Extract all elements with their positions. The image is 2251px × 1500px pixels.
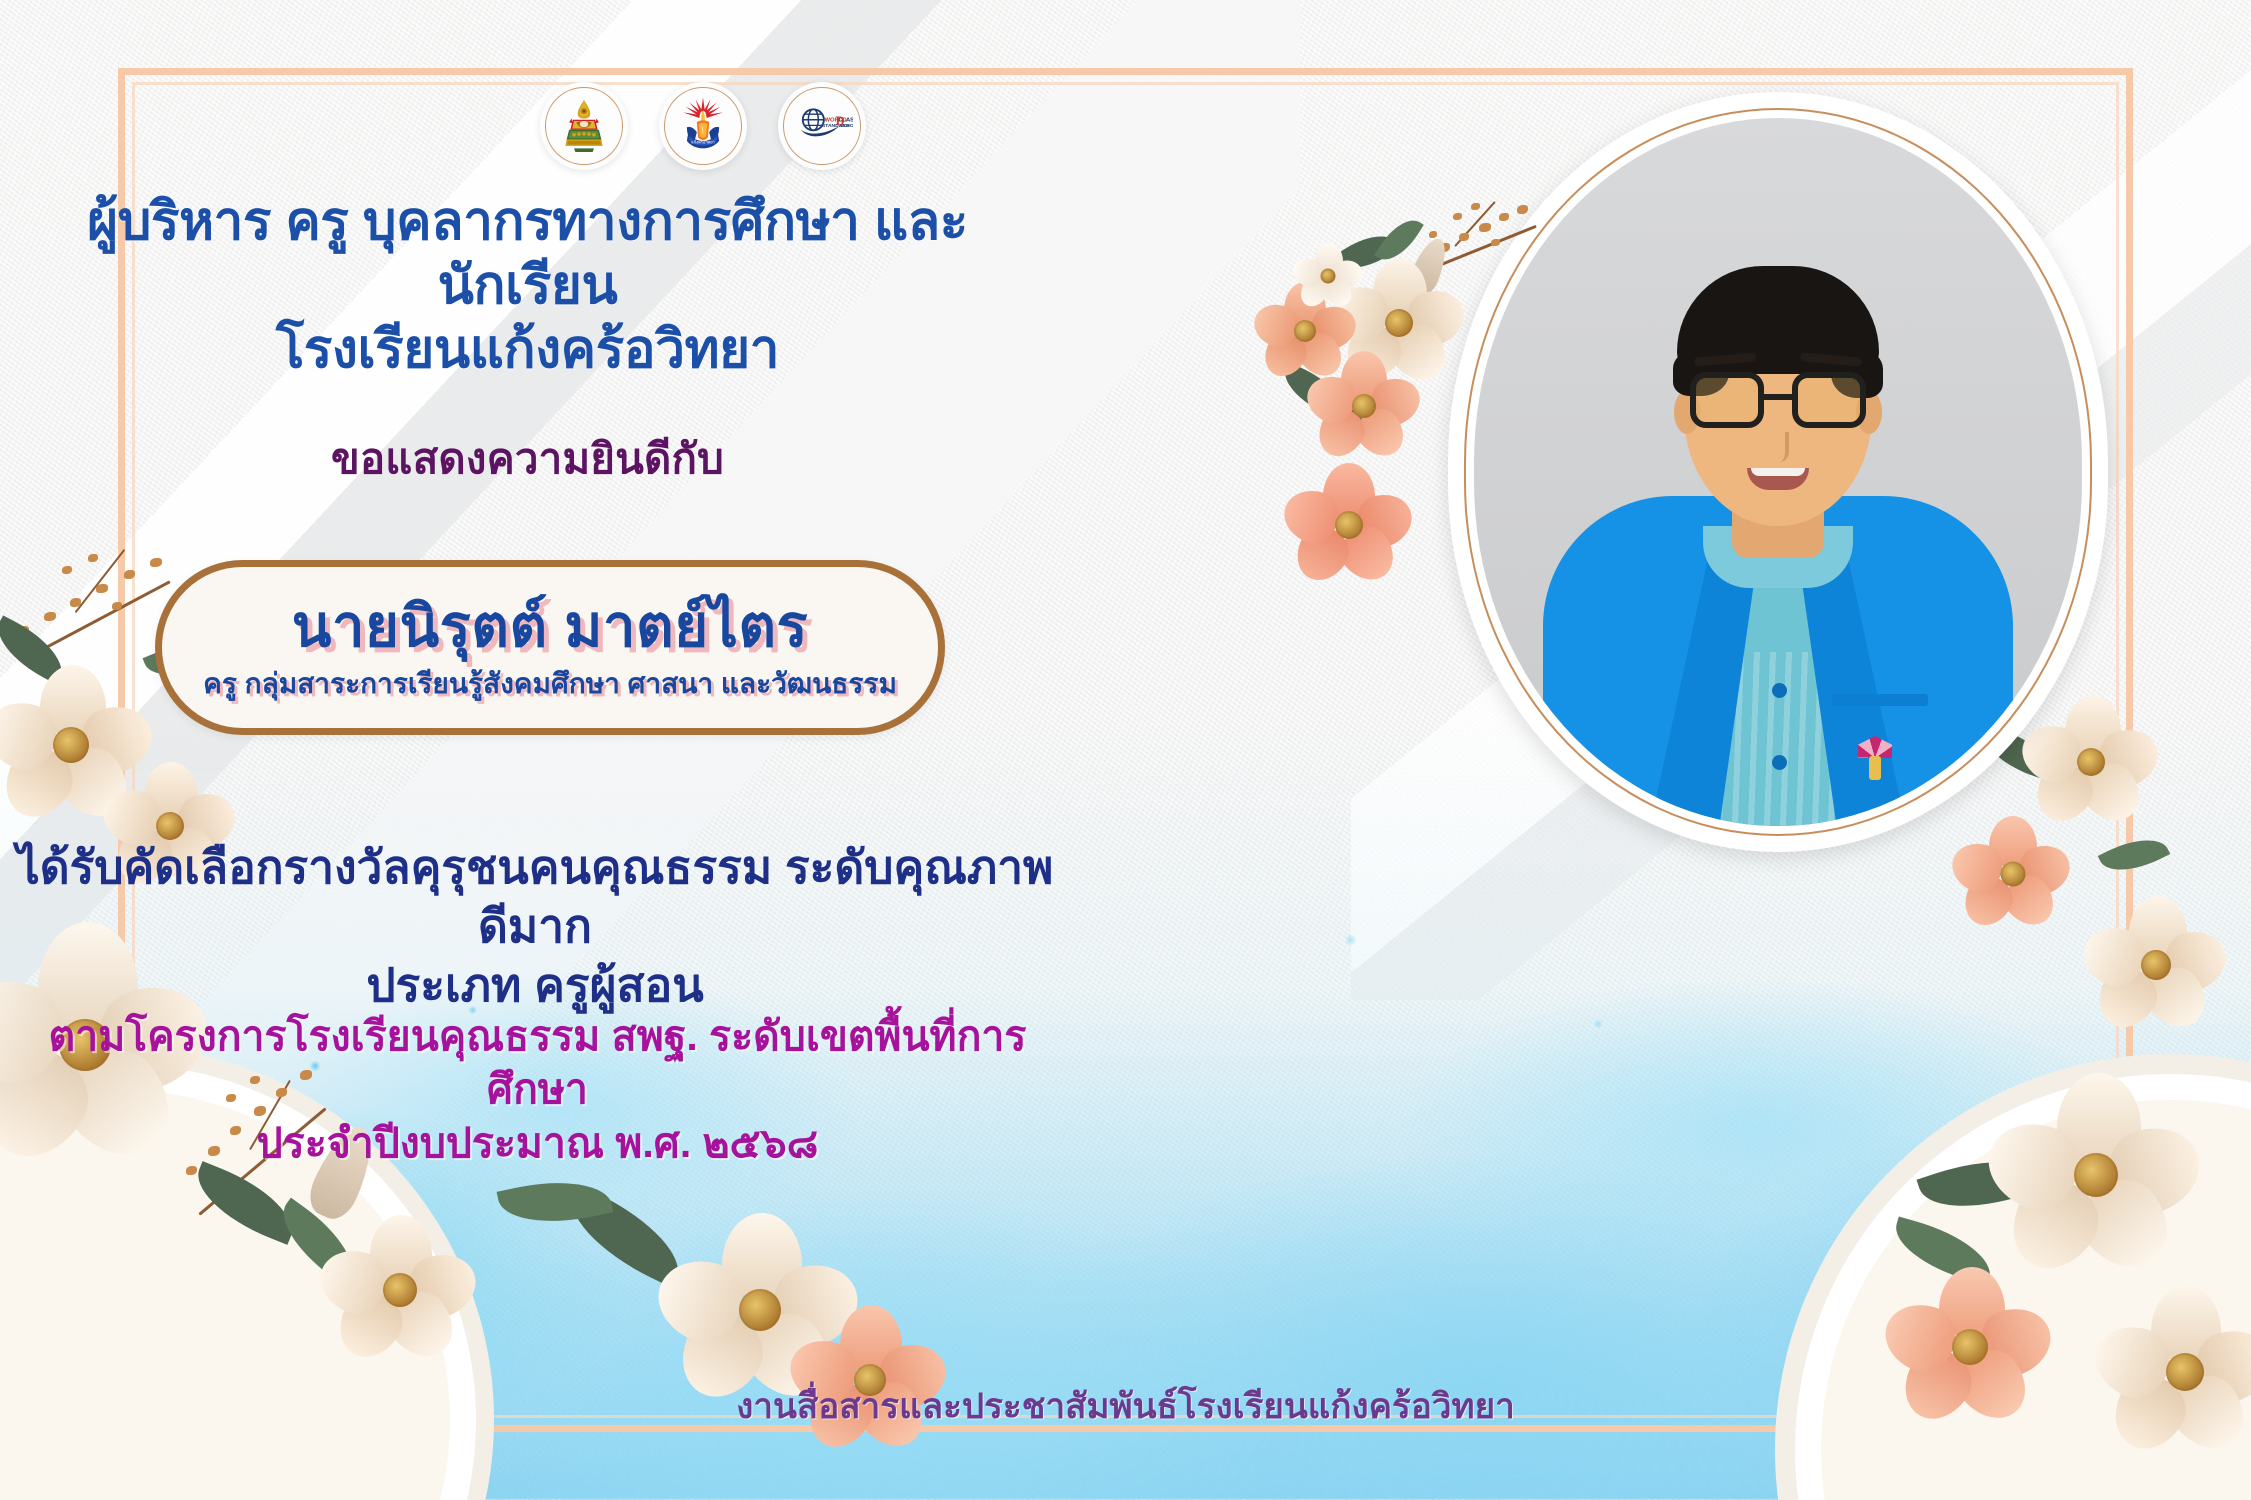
svg-text:WORLD: WORLD: [824, 118, 846, 124]
svg-text:SCHOOL: SCHOOL: [839, 123, 853, 129]
eyeglasses-icon: [1690, 372, 1866, 430]
award-line-1: ได้รับคัดเลือกรางวัลคุรุชนคนคุณธรรม ระดั…: [17, 841, 1054, 952]
svg-text:CLASS: CLASS: [838, 118, 853, 124]
header-line-1: ผู้บริหาร ครู บุคลากรทางการศึกษา และนักเ…: [0, 190, 1055, 318]
lens-right: [1792, 372, 1866, 428]
header-line-2: โรงเรียนแก้งคร้อวิทยา: [0, 318, 1055, 382]
honoree-name: นายนิรุตต์ มาตย์ไตร: [292, 598, 808, 656]
honoree-portrait-photo: [1474, 118, 2082, 826]
obec-royal-emblem-logo: [540, 82, 628, 170]
lens-left: [1690, 372, 1764, 428]
school-torch-emblem-logo: แก้งคร้อวิทยา: [659, 82, 747, 170]
nose: [1767, 432, 1789, 462]
svg-text:D: D: [836, 114, 845, 128]
person-illustration: [1474, 118, 2082, 826]
project-line-1: ตามโครงการโรงเรียนคุณธรรม สพฐ. ระดับเขตพ…: [0, 1010, 1075, 1117]
project-line-2: ประจำปีงบประมาณ พ.ศ. ๒๕๖๘: [0, 1117, 1075, 1170]
jacket-button-top: [1772, 683, 1787, 698]
svg-text:แก้งคร้อวิทยา: แก้งคร้อวิทยา: [691, 139, 715, 144]
honoree-role: ครู กลุ่มสาระการเรียนรู้สังคมศึกษา ศาสนา…: [203, 670, 897, 698]
world-class-standard-school-logo: WORLD CLASS STANDARD SCHOOL D: [778, 82, 866, 170]
school-lapel-pin-icon: [1858, 736, 1892, 780]
honoree-portrait: [1448, 92, 2108, 852]
project-text-block: ตามโครงการโรงเรียนคุณธรรม สพฐ. ระดับเขตพ…: [0, 1010, 1075, 1170]
jacket-button-bottom: [1772, 755, 1787, 770]
footer-credit: งานสื่อสารและประชาสัมพันธ์โรงเรียนแก้งคร…: [0, 1379, 2251, 1434]
congratulation-poster: แก้งคร้อวิทยา WORLD CLASS STANDARD SCHOO…: [0, 0, 2251, 1500]
svg-text:STANDARD: STANDARD: [822, 123, 850, 129]
breast-pocket: [1832, 694, 1928, 706]
award-text-block: ได้รับคัดเลือกรางวัลคุรุชนคนคุณธรรม ระดั…: [0, 838, 1070, 1015]
honoree-name-box: นายนิรุตต์ มาตย์ไตร ครู กลุ่มสาระการเรีย…: [155, 560, 945, 735]
header-text-block: ผู้บริหาร ครู บุคลากรทางการศึกษา และนักเ…: [0, 190, 1055, 492]
award-line-2: ประเภท ครูผู้สอน: [0, 956, 1070, 1015]
logo-row: แก้งคร้อวิทยา WORLD CLASS STANDARD SCHOO…: [540, 82, 866, 170]
congratulations-text: ขอแสดงความยินดีกับ: [0, 426, 1055, 492]
glasses-bridge: [1764, 394, 1792, 400]
